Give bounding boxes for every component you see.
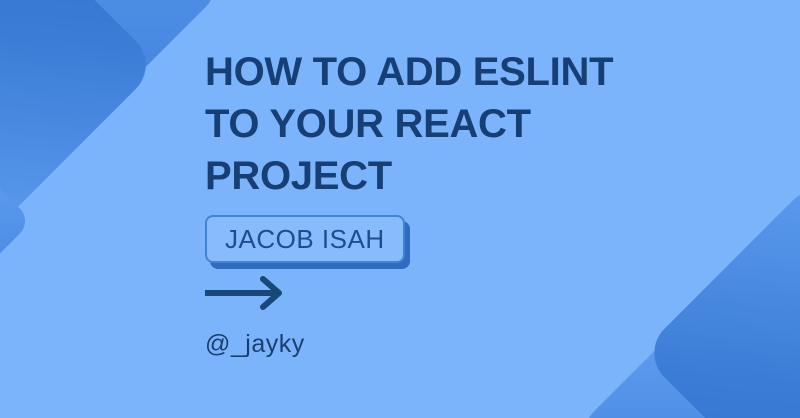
social-handle: @_jayky — [205, 330, 305, 359]
blog-cover-banner: HOW TO ADD ESLINT TO YOUR REACT PROJECT … — [0, 0, 800, 418]
author-badge: JACOB ISAH — [205, 215, 405, 263]
arrow-right-icon — [205, 276, 290, 310]
banner-content: HOW TO ADD ESLINT TO YOUR REACT PROJECT … — [205, 0, 765, 418]
rounded-square-top-left-front-decoration — [0, 0, 160, 242]
page-title-line-3: PROJECT — [205, 150, 765, 202]
page-title-line-1: HOW TO ADD ESLINT — [205, 46, 765, 98]
page-title-line-2: TO YOUR REACT — [205, 98, 765, 150]
rounded-square-bottom-left-nub-decoration — [0, 172, 32, 271]
rounded-square-top-left-back-decoration — [0, 0, 230, 146]
author-name-label: JACOB ISAH — [225, 224, 385, 255]
page-title: HOW TO ADD ESLINT TO YOUR REACT PROJECT — [205, 46, 765, 202]
